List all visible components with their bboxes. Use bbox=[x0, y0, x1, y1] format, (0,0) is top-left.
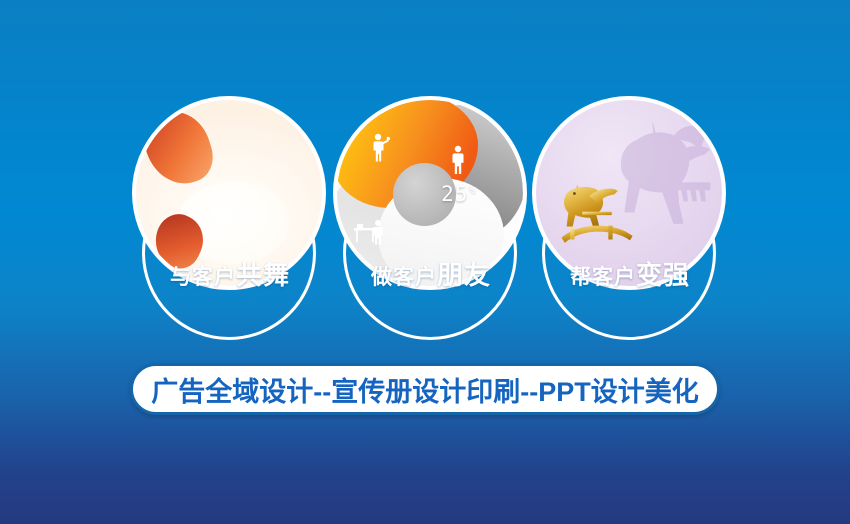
services-banner-text: 广告全域设计--宣传册设计印刷--PPT设计美化 bbox=[151, 370, 698, 409]
feature-card-3[interactable]: 帮客户变强 bbox=[532, 96, 728, 346]
artwork-circle-1 bbox=[132, 96, 326, 290]
feature-card-group: 与客户共舞 bbox=[0, 96, 850, 346]
orange-smoke-swirl-image bbox=[136, 100, 322, 286]
card-caption-1: 与客户共舞 bbox=[132, 262, 328, 288]
stat-percent-label: 25% bbox=[441, 182, 476, 206]
poster-canvas: 与客户共舞 bbox=[0, 0, 850, 524]
caption-emphasis-3: 变强 bbox=[636, 260, 690, 290]
artwork-circle-2: 25% bbox=[333, 96, 527, 290]
caption-emphasis-1: 共舞 bbox=[236, 260, 290, 290]
person-presenting-icon bbox=[370, 133, 390, 163]
services-banner[interactable]: 广告全域设计--宣传册设计印刷--PPT设计美化 bbox=[130, 363, 720, 415]
caption-prefix-2: 做客户 bbox=[371, 266, 437, 289]
feature-card-1[interactable]: 与客户共舞 bbox=[132, 96, 328, 346]
feature-card-2[interactable]: 25% 做客户朋友 bbox=[333, 96, 529, 346]
golden-rocking-horse-with-unicorn-shadow-image bbox=[536, 100, 722, 286]
card-caption-2: 做客户朋友 bbox=[333, 262, 529, 288]
caption-prefix-1: 与客户 bbox=[170, 266, 236, 289]
artwork-circle-3 bbox=[532, 96, 726, 290]
pie-chart-infographic-image: 25% bbox=[337, 100, 523, 286]
caption-prefix-3: 帮客户 bbox=[570, 266, 636, 289]
person-at-desk-icon bbox=[354, 219, 386, 245]
caption-emphasis-2: 朋友 bbox=[437, 260, 491, 290]
golden-rocking-horse-icon bbox=[551, 174, 655, 263]
stat-unit: % bbox=[468, 183, 476, 196]
person-standing-icon bbox=[449, 145, 467, 175]
card-caption-3: 帮客户变强 bbox=[532, 262, 728, 288]
stat-value: 25 bbox=[441, 182, 468, 206]
